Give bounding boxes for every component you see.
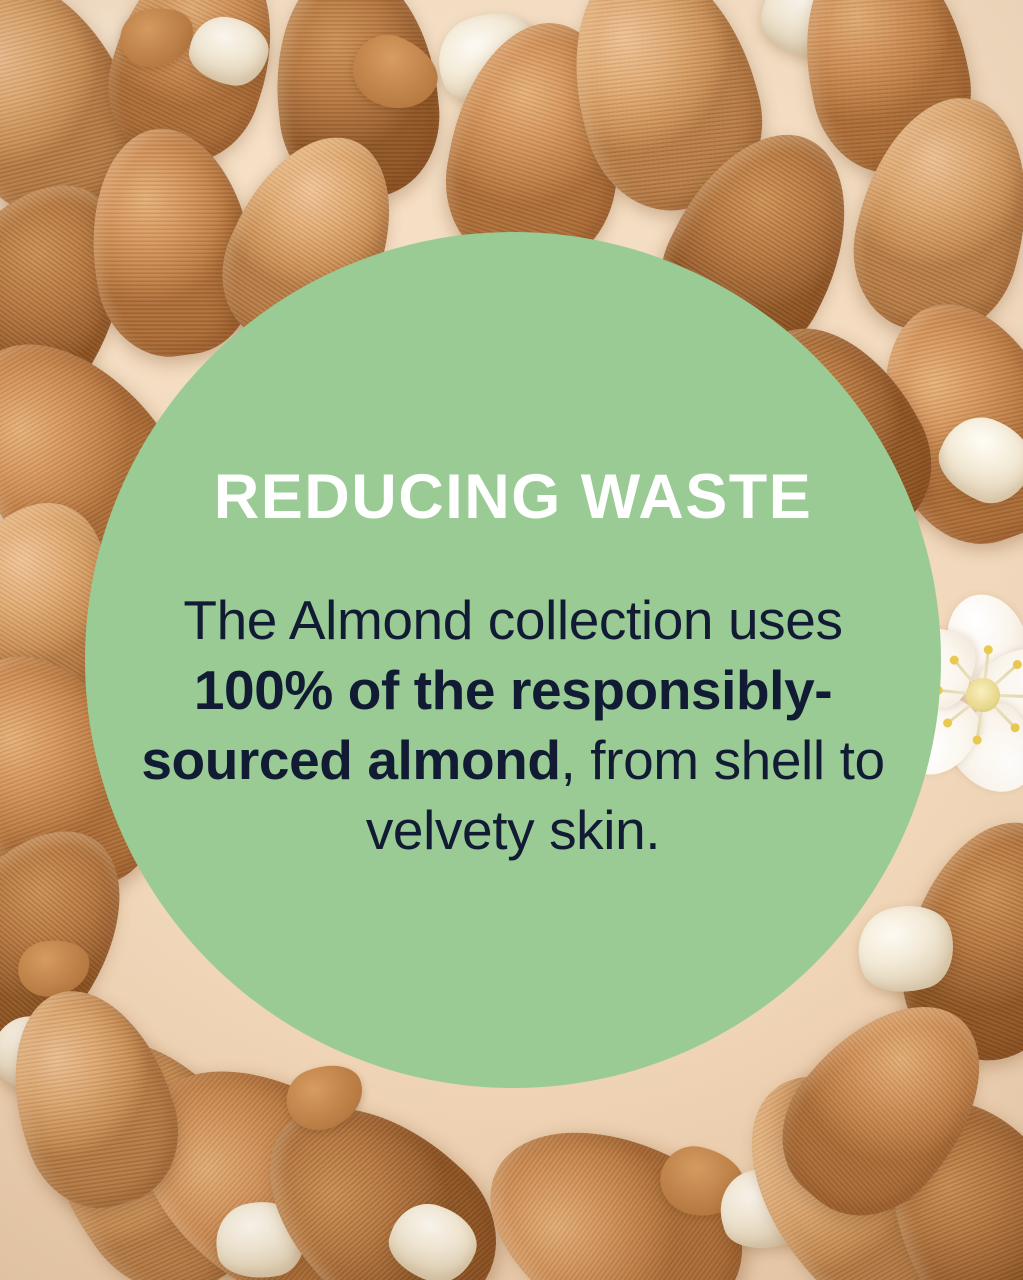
callout-body-line-3-rest: , from shell bbox=[561, 729, 825, 791]
callout-heading: REDUCING WASTE bbox=[214, 466, 813, 529]
blossom-center bbox=[966, 678, 1000, 712]
callout-body-line-2: 100% of the responsibly- bbox=[194, 659, 832, 721]
callout-body-line-1: The Almond collection uses bbox=[183, 589, 842, 651]
callout-body-line-3-bold: sourced almond bbox=[141, 729, 560, 791]
promo-card: REDUCING WASTE The Almond collection use… bbox=[0, 0, 1023, 1280]
callout-body: The Almond collection uses 100% of the r… bbox=[133, 585, 893, 865]
green-callout-circle: REDUCING WASTE The Almond collection use… bbox=[85, 232, 941, 1088]
